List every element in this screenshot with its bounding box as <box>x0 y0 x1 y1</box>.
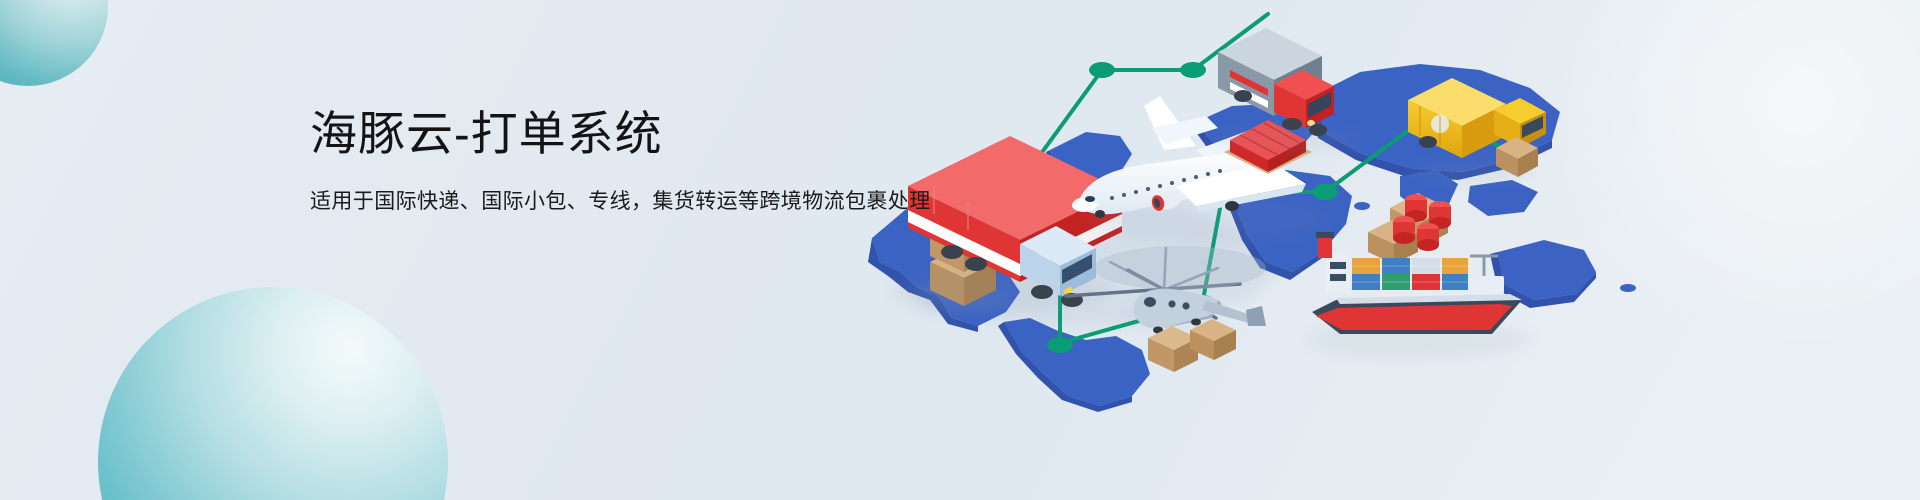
landmass-africa-shade <box>1230 182 1322 280</box>
island <box>1065 348 1079 356</box>
box-left <box>1190 330 1214 360</box>
plane-wheel <box>1095 210 1105 218</box>
truck-cab-right <box>1060 248 1096 296</box>
logistics-network <box>1032 14 1512 343</box>
ship-deck-house <box>1472 276 1504 294</box>
boxtruck-stripe <box>1230 70 1268 96</box>
box-right <box>1214 330 1236 360</box>
decor-circle-bottom-left <box>98 287 448 500</box>
trailer-stripe <box>908 210 1020 276</box>
page-subtitle: 适用于国际快递、国际小包、专线，集货转运等跨境物流包裹处理 <box>310 187 950 217</box>
landmass-india <box>1400 170 1458 212</box>
plane-windows <box>1110 169 1222 200</box>
van-body-top <box>1408 78 1506 126</box>
network-link <box>1056 192 1222 266</box>
landmass-europe-shade <box>1190 122 1300 164</box>
map-reflection <box>1094 246 1266 290</box>
van-body-left <box>1408 100 1462 158</box>
box-left <box>1368 232 1394 264</box>
van-cab-right <box>1520 112 1546 148</box>
box-top <box>1390 193 1448 223</box>
cargo-ship <box>1308 232 1532 360</box>
island <box>1620 284 1636 292</box>
box-right <box>964 262 996 306</box>
truck-wheel <box>965 257 987 271</box>
network-node <box>1210 184 1236 200</box>
plane-engine <box>1264 145 1296 170</box>
network-link <box>1325 110 1436 192</box>
plane-fuselage <box>1079 150 1273 215</box>
network-node <box>1190 295 1216 311</box>
helicopter-tail-boom <box>1202 300 1254 324</box>
box-top <box>1148 326 1198 350</box>
box-left <box>1496 148 1518 177</box>
box-top <box>1368 220 1418 244</box>
network-link <box>1032 70 1102 166</box>
van-logo <box>1431 115 1449 133</box>
box-left <box>930 230 964 272</box>
ship-deck <box>1336 294 1522 304</box>
network-link <box>1060 303 1203 343</box>
delivery-van <box>1408 78 1546 184</box>
plane-wing-near-shade <box>1196 184 1306 212</box>
ship-bridge-window <box>1330 274 1346 281</box>
helicopter-wheel <box>1191 319 1201 326</box>
plane-tail-plane <box>1152 116 1218 144</box>
page-title: 海豚云-打单系统 <box>310 106 950 161</box>
box-left <box>930 262 964 306</box>
island <box>1354 202 1370 210</box>
trailer-stripe <box>1020 214 1122 276</box>
helicopter-porthole <box>1182 302 1189 309</box>
logistics-illustration <box>0 0 1920 500</box>
cardboard-box-stack-left <box>912 214 1008 314</box>
box-top <box>1496 137 1538 159</box>
plane-tail-fin <box>1144 96 1196 150</box>
airplane <box>1072 96 1330 244</box>
landmass-africa <box>1236 170 1352 272</box>
helicopter-wheel <box>1153 327 1163 334</box>
ship-bridge-window <box>1330 262 1346 269</box>
truck-cab-top <box>1020 226 1096 266</box>
helicopter <box>1066 248 1266 334</box>
plane-engine <box>1152 187 1184 212</box>
ship-bridge <box>1326 254 1350 294</box>
boxtruck-stripe-white <box>1230 82 1268 108</box>
landmass-southeast-asia <box>1468 180 1538 216</box>
cardboard-box-stack-lower <box>1148 319 1236 372</box>
truck-wheel <box>941 245 963 259</box>
helicopter-tail-fin <box>1246 306 1266 326</box>
landmass-asia-shade <box>1304 96 1552 180</box>
van-cab-top <box>1494 98 1546 124</box>
network-node <box>1180 62 1206 78</box>
box-top <box>930 214 996 246</box>
landmass-greenland-shade <box>1046 150 1118 192</box>
van-wheel <box>1509 144 1527 156</box>
plane-engine-core <box>1153 197 1162 208</box>
van-body-right <box>1462 104 1506 158</box>
network-nodes <box>1017 62 1524 353</box>
box-top <box>1190 319 1236 341</box>
network-node <box>1424 103 1448 117</box>
network-node <box>1047 337 1073 353</box>
pallet-cargo-left <box>1230 140 1268 172</box>
boxtruck-body-top <box>1218 28 1322 80</box>
shipping-containers <box>1352 258 1468 290</box>
network-node <box>1312 184 1338 200</box>
banner-copy: 海豚云-打单系统 适用于国际快递、国际小包、专线，集货转运等跨境物流包裹处理 <box>310 106 950 218</box>
landmass-north-america-shade <box>868 238 978 332</box>
boxtruck-cab-right <box>1306 86 1334 128</box>
helicopter-porthole <box>1168 300 1175 307</box>
boxtruck-body-left <box>1218 52 1274 116</box>
box-right <box>1420 208 1448 248</box>
barrel-row <box>1393 216 1439 251</box>
plane-nose <box>1072 198 1098 212</box>
van-windshield <box>1522 116 1543 138</box>
boxtruck-cab-left <box>1274 84 1306 128</box>
island <box>1169 137 1187 147</box>
landmass-greenland <box>1050 132 1132 186</box>
red-barrel-stack <box>1393 194 1451 251</box>
plane-wheel <box>1225 201 1239 211</box>
trailer-right <box>1020 190 1122 282</box>
boxtruck-wheel <box>1309 124 1327 136</box>
ship-funnel-cap <box>1316 232 1334 238</box>
van-cab-left <box>1494 110 1520 148</box>
ship-funnel <box>1318 236 1332 258</box>
pallet-cargo-right <box>1268 140 1306 172</box>
plane-wing-near <box>1176 162 1306 206</box>
island <box>1149 168 1163 176</box>
truck-headlight <box>1063 286 1074 295</box>
decor-glow <box>1540 0 1920 360</box>
barrel-row <box>1405 194 1451 229</box>
box-right <box>1518 148 1538 177</box>
decor-circle-top-left <box>0 0 108 86</box>
boxtruck-windshield <box>1308 92 1331 118</box>
boxtruck-body-right <box>1274 56 1322 116</box>
landmass-europe <box>1196 104 1316 158</box>
landmass-australia-shade <box>1490 252 1596 308</box>
network-link <box>1193 14 1268 70</box>
landmass-australia <box>1498 240 1596 300</box>
box-left <box>1390 208 1420 248</box>
helicopter-window <box>1144 297 1156 307</box>
box-right <box>964 230 996 272</box>
network-node <box>1042 260 1070 276</box>
helicopter-body <box>1134 288 1221 328</box>
plane-cockpit-window <box>1085 196 1095 202</box>
helicopter-rotor <box>1110 248 1218 290</box>
landmass-south-america <box>1004 318 1150 406</box>
network-link <box>1203 192 1223 300</box>
boxtruck-headlight <box>1307 120 1315 126</box>
plane-engine-intake <box>1262 152 1278 171</box>
box-top <box>930 246 996 278</box>
van-wheel <box>1419 136 1437 148</box>
box-right <box>1174 338 1198 372</box>
network-link <box>1436 110 1512 154</box>
pallet-base <box>1224 130 1312 174</box>
plane-wing-far <box>1196 124 1280 166</box>
world-map <box>868 62 1636 412</box>
landmass-south-america-shade <box>998 322 1132 412</box>
ship-hull-stripe <box>1316 304 1512 330</box>
network-node <box>1089 62 1115 78</box>
boxtruck-wheel <box>1282 118 1302 130</box>
network-node <box>1500 149 1524 163</box>
box-truck <box>1216 28 1364 153</box>
boxtruck-cab-top <box>1274 70 1334 100</box>
hero-banner: 海豚云-打单系统 适用于国际快递、国际小包、专线，集货转运等跨境物流包裹处理 <box>0 0 1920 500</box>
cardboard-box-stack-right <box>1368 193 1448 264</box>
helicopter-body-shade <box>1164 300 1221 328</box>
box-right <box>1394 232 1418 264</box>
ship-hull <box>1312 296 1522 334</box>
pallet-cargo-top <box>1230 120 1306 160</box>
box-left <box>1148 338 1174 372</box>
network-node <box>1017 159 1047 177</box>
red-pallet-load <box>1224 120 1312 174</box>
truck-windshield <box>1062 254 1092 284</box>
landmass-asia <box>1312 64 1560 172</box>
truck-wheel <box>1061 293 1083 307</box>
landmass-scandinavia <box>1252 62 1314 100</box>
helicopter-rotor-main <box>1066 270 1240 318</box>
plane-engine-intake <box>1150 194 1166 213</box>
truck-wheel <box>1031 285 1053 299</box>
boxtruck-wheel <box>1234 90 1252 102</box>
truck-cab-left <box>1020 244 1060 296</box>
